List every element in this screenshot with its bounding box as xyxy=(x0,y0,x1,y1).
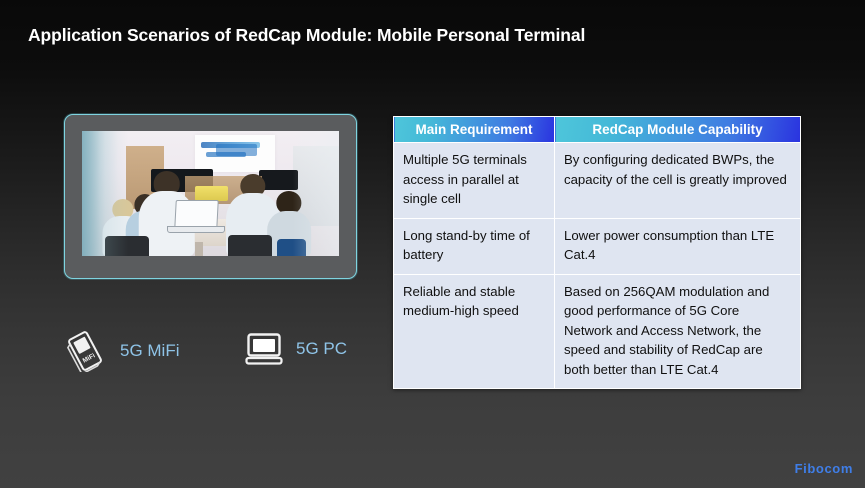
legend-item-5g-mifi[interactable]: MiFi 5G MiFi xyxy=(62,330,180,372)
requirements-table: Main Requirement RedCap Module Capabilit… xyxy=(393,116,801,389)
slide-canvas: Application Scenarios of RedCap Module: … xyxy=(0,0,865,488)
cell-requirement: Reliable and stable medium-high speed xyxy=(394,274,555,389)
table-row: Multiple 5G terminals access in parallel… xyxy=(394,143,801,219)
cell-capability: Based on 256QAM modulation and good perf… xyxy=(555,274,801,389)
table-row: Reliable and stable medium-high speed Ba… xyxy=(394,274,801,389)
table-row: Long stand-by time of battery Lower powe… xyxy=(394,218,801,274)
fibocom-logo: Fibocom xyxy=(795,461,853,476)
svg-text:MiFi: MiFi xyxy=(82,352,97,364)
cell-requirement: Multiple 5G terminals access in parallel… xyxy=(394,143,555,219)
mifi-device-icon: MiFi xyxy=(62,330,108,372)
legend-item-5g-pc[interactable]: 5G PC xyxy=(244,331,347,367)
laptop-icon xyxy=(244,331,284,367)
tablet-device xyxy=(64,114,357,279)
table-header-redcap-capability: RedCap Module Capability xyxy=(555,117,801,143)
page-title: Application Scenarios of RedCap Module: … xyxy=(28,25,585,46)
table-header-main-requirement: Main Requirement xyxy=(394,117,555,143)
legend-label-5g-pc: 5G PC xyxy=(296,339,347,359)
device-screen xyxy=(82,131,339,256)
legend-label-5g-mifi: 5G MiFi xyxy=(120,341,180,361)
cell-capability: Lower power consumption than LTE Cat.4 xyxy=(555,218,801,274)
cell-requirement: Long stand-by time of battery xyxy=(394,218,555,274)
meeting-room-photo xyxy=(82,131,339,256)
cell-capability: By configuring dedicated BWPs, the capac… xyxy=(555,143,801,219)
table-header-row: Main Requirement RedCap Module Capabilit… xyxy=(394,117,801,143)
